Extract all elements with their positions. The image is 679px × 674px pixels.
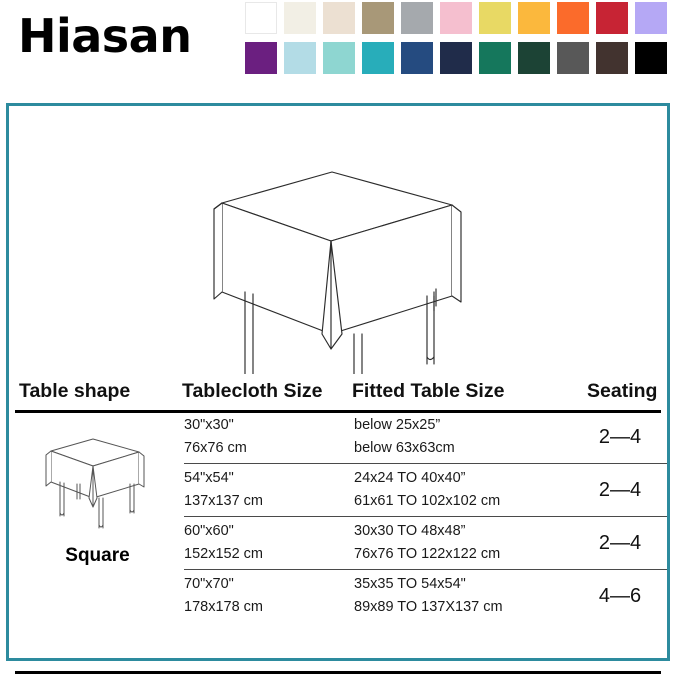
tablecloth-illustration [9, 106, 667, 374]
swatch-navy[interactable] [440, 42, 472, 74]
cell-tablecloth-cm: 152x152 cm [184, 546, 263, 562]
cell-fitted-inches: 35x35 TO 54x54" [354, 576, 466, 592]
swatch-ivory[interactable] [284, 2, 316, 34]
square-table-icon [29, 429, 159, 534]
swatch-purple[interactable] [245, 42, 277, 74]
swatch-aqua[interactable] [323, 42, 355, 74]
swatch-denim-blue[interactable] [401, 42, 433, 74]
swatch-grey[interactable] [401, 2, 433, 34]
cell-tablecloth-inches: 70"x70" [184, 576, 234, 592]
cell-fitted-cm: 76x76 TO 122x122 cm [354, 546, 500, 562]
cell-seating: 2—4 [580, 426, 660, 449]
swatch-taupe[interactable] [362, 2, 394, 34]
column-header-fitted-size: Fitted Table Size [352, 380, 504, 403]
column-header-seating: Seating [587, 380, 657, 403]
table-header-row: Table shape Tablecloth Size Fitted Table… [9, 374, 667, 410]
cell-fitted-inches: 30x30 TO 48x48” [354, 523, 466, 539]
swatch-hunter-green[interactable] [518, 42, 550, 74]
cell-tablecloth-inches: 60"x60" [184, 523, 234, 539]
table-row: 70"x70" 178x178 cm 35x35 TO 54x54" 89x89… [180, 572, 667, 626]
column-header-table-shape: Table shape [19, 380, 130, 403]
brand-logo: Hiasan [18, 8, 191, 64]
swatch-teal[interactable] [362, 42, 394, 74]
cell-tablecloth-inches: 30"x30" [184, 417, 234, 433]
table-body: Square 30"x30" 76x76 cm below 25x25” bel… [9, 413, 667, 629]
cell-fitted-cm: 89x89 TO 137X137 cm [354, 599, 503, 615]
cell-tablecloth-cm: 76x76 cm [184, 440, 247, 456]
cell-seating: 4—6 [580, 585, 660, 608]
size-table: Table shape Tablecloth Size Fitted Table… [9, 374, 667, 410]
table-row: 60"x60" 152x152 cm 30x30 TO 48x48” 76x76… [180, 519, 667, 573]
swatch-red[interactable] [596, 2, 628, 34]
table-row: 30"x30" 76x76 cm below 25x25” below 63x6… [180, 413, 667, 467]
swatch-black[interactable] [635, 42, 667, 74]
swatch-emerald[interactable] [479, 42, 511, 74]
cell-fitted-inches: below 25x25” [354, 417, 440, 433]
swatch-dark-brown[interactable] [596, 42, 628, 74]
color-swatch-row-1 [245, 2, 675, 34]
row-divider [184, 516, 667, 517]
swatch-charcoal[interactable] [557, 42, 589, 74]
cell-fitted-cm: below 63x63cm [354, 440, 455, 456]
cell-seating: 2—4 [580, 532, 660, 555]
cell-fitted-cm: 61x61 TO 102x102 cm [354, 493, 500, 509]
swatch-white[interactable] [245, 2, 277, 34]
cell-fitted-inches: 24x24 TO 40x40” [354, 470, 466, 486]
swatch-orange[interactable] [557, 2, 589, 34]
page-header: Hiasan [0, 0, 679, 92]
column-header-tablecloth-size: Tablecloth Size [182, 380, 323, 403]
table-row: 54"x54" 137x137 cm 24x24 TO 40x40” 61x61… [180, 466, 667, 520]
table-shape-label: Square [15, 545, 180, 567]
row-divider [184, 569, 667, 570]
row-divider [184, 463, 667, 464]
swatch-light-blue[interactable] [284, 42, 316, 74]
cell-tablecloth-cm: 178x178 cm [184, 599, 263, 615]
swatch-pink[interactable] [440, 2, 472, 34]
swatch-gold[interactable] [518, 2, 550, 34]
color-swatch-grid [245, 2, 675, 82]
swatch-lavender[interactable] [635, 2, 667, 34]
size-chart-panel: Table shape Tablecloth Size Fitted Table… [6, 103, 670, 661]
cell-tablecloth-cm: 137x137 cm [184, 493, 263, 509]
color-swatch-row-2 [245, 42, 675, 74]
swatch-beige[interactable] [323, 2, 355, 34]
cell-seating: 2—4 [580, 479, 660, 502]
cell-tablecloth-inches: 54"x54" [184, 470, 234, 486]
swatch-yellow[interactable] [479, 2, 511, 34]
table-shape-cell: Square [15, 413, 180, 629]
